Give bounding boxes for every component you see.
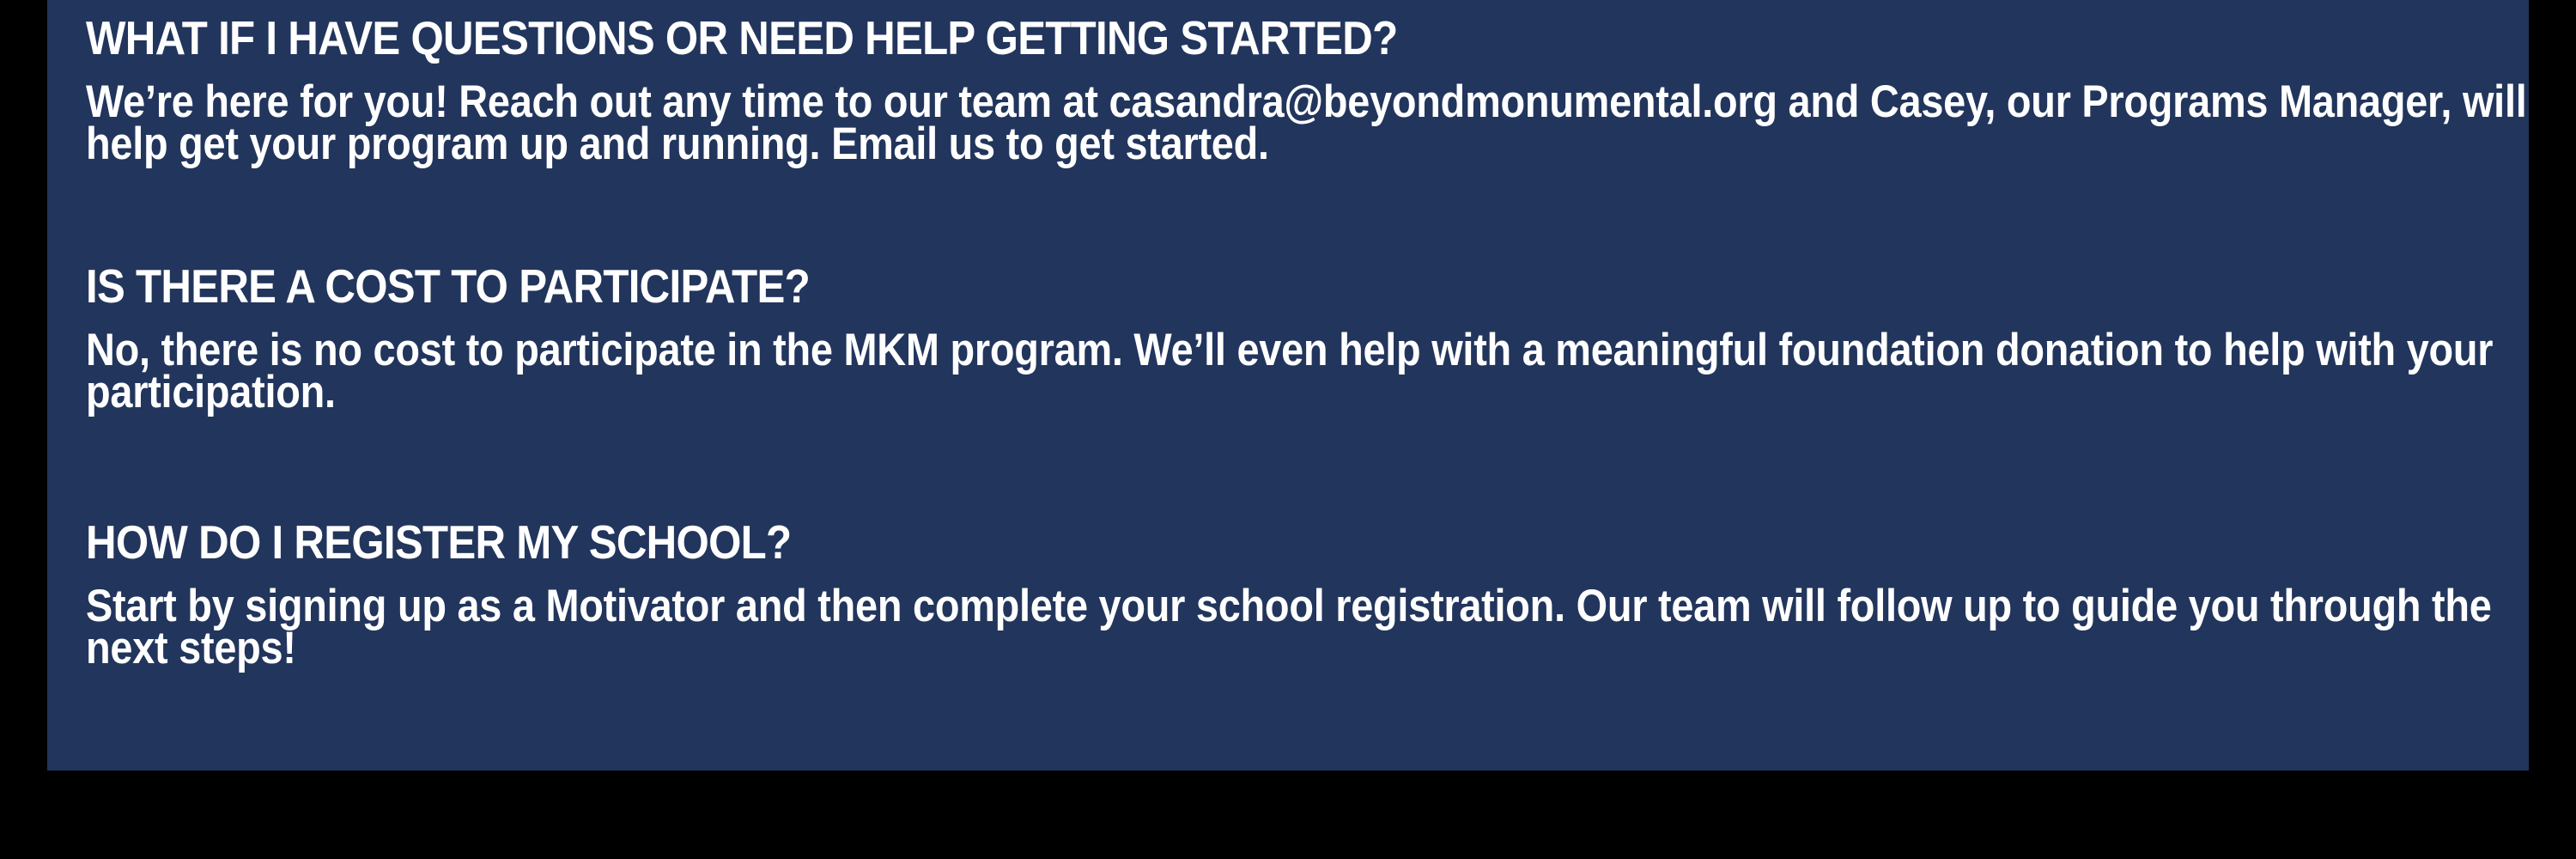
faq-item: IS THERE A COST TO PARTICIPATE? No, ther…	[86, 262, 2473, 413]
faq-item: WHAT IF I HAVE QUESTIONS OR NEED HELP GE…	[86, 14, 2473, 165]
faq-answer: Start by signing up as a Motivator and t…	[86, 585, 2548, 669]
faq-answer: We’re here for you! Reach out any time t…	[86, 81, 2548, 165]
faq-question[interactable]: IS THERE A COST TO PARTICIPATE?	[86, 262, 2222, 310]
faq-answer: No, there is no cost to participate in t…	[86, 329, 2548, 413]
faq-question[interactable]: WHAT IF I HAVE QUESTIONS OR NEED HELP GE…	[86, 14, 2222, 62]
faq-panel: WHAT IF I HAVE QUESTIONS OR NEED HELP GE…	[47, 0, 2529, 771]
faq-item: HOW DO I REGISTER MY SCHOOL? Start by si…	[86, 518, 2473, 669]
faq-question[interactable]: HOW DO I REGISTER MY SCHOOL?	[86, 518, 2222, 566]
